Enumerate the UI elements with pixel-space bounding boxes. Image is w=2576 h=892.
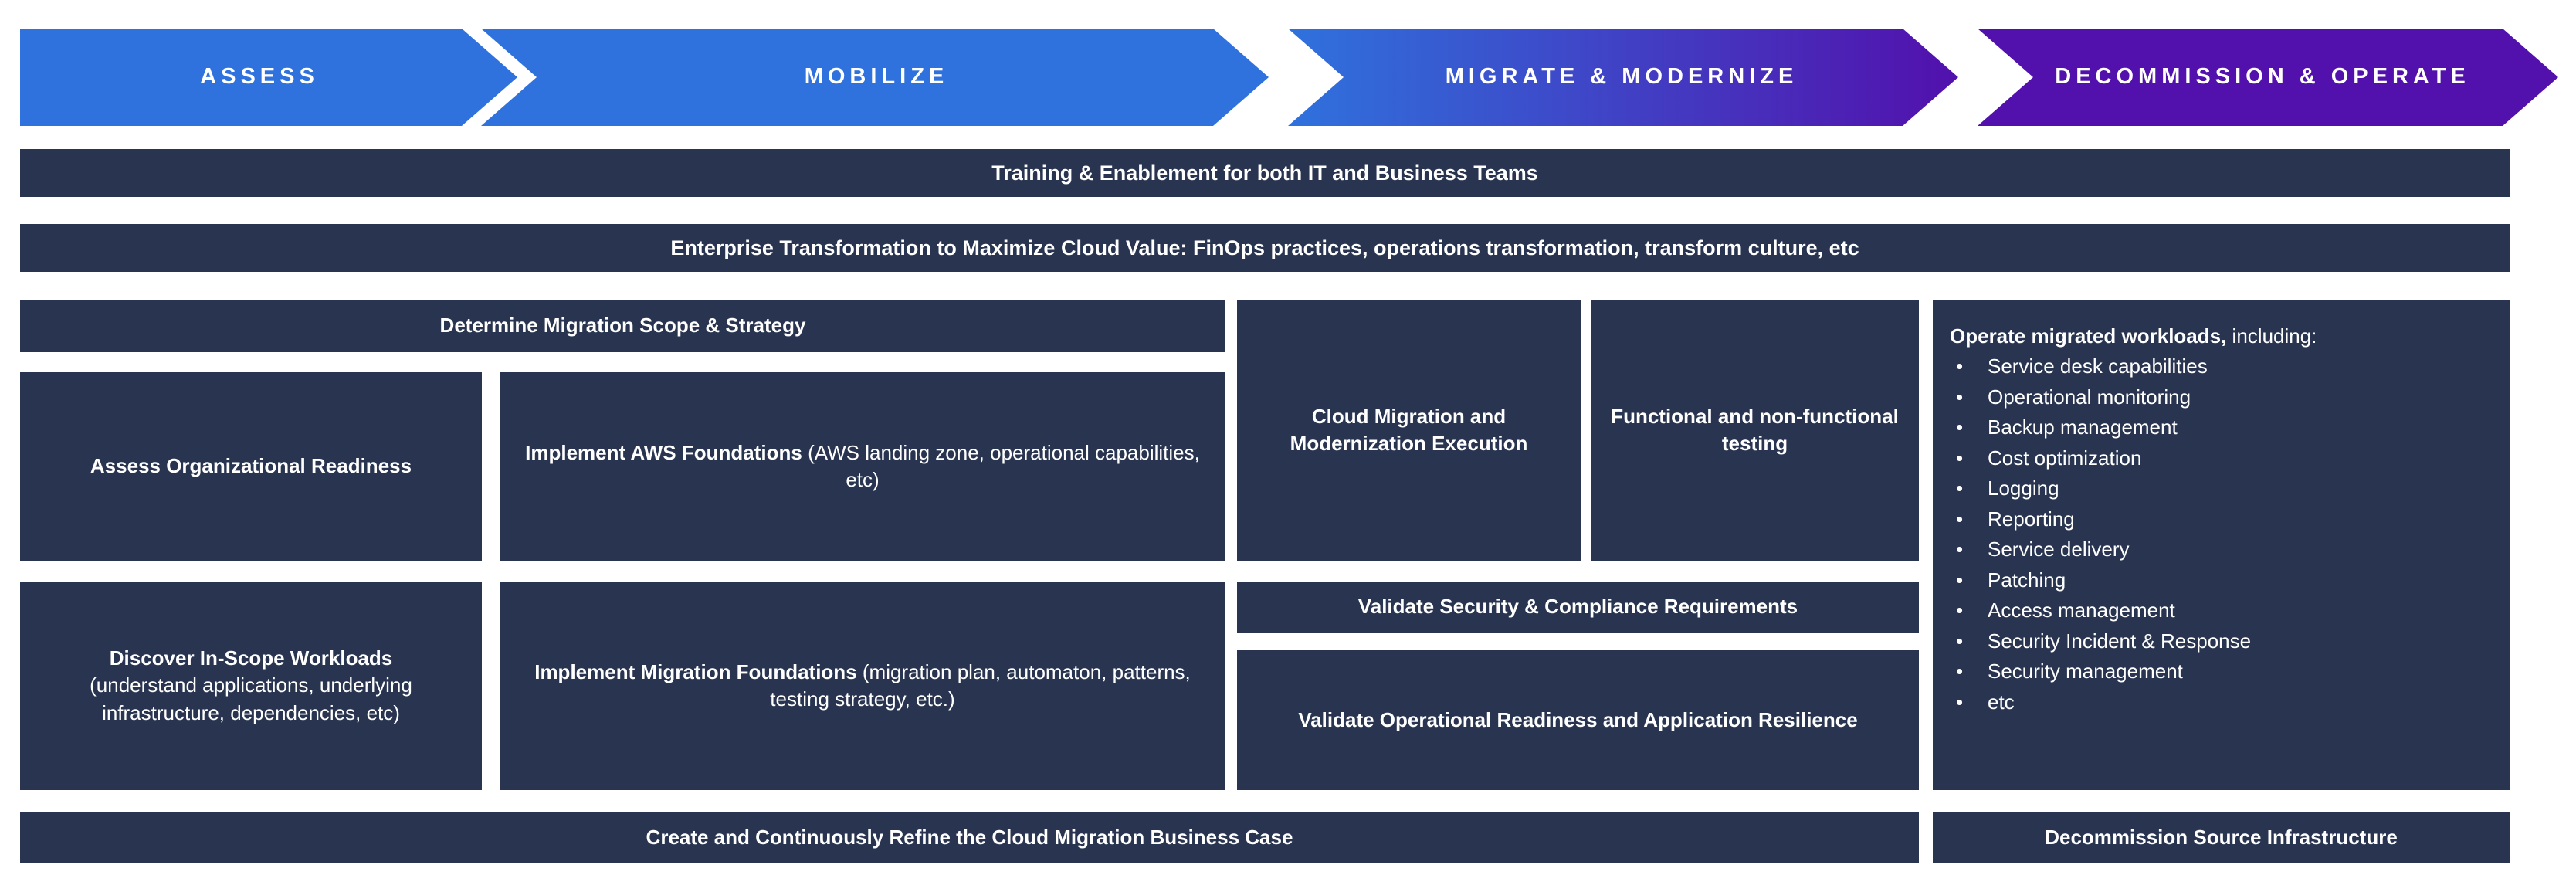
list-item-label: Cost optimization [1988,446,2141,470]
box-implement-aws-foundations-text: Implement AWS Foundations (AWS landing z… [512,439,1213,493]
phase-banner: ASSESS MOBILIZE MIGRATE & MODERNIZE DECO… [0,29,2576,126]
list-item-label: Backup management [1988,415,2178,439]
box-aws-foundations-rest: (AWS landing zone, operational capabilit… [802,441,1200,491]
bullet-icon: • [1956,595,1963,626]
box-functional-testing-text: Functional and non-functional testing [1603,403,1907,457]
list-item-label: Operational monitoring [1988,385,2191,409]
box-decommission-source-infrastructure-text: Decommission Source Infrastructure [2045,824,2398,851]
box-decommission-source-infrastructure: Decommission Source Infrastructure [1933,812,2510,863]
operate-heading-bold: Operate migrated workloads, [1950,324,2226,348]
band-enterprise-transformation: Enterprise Transformation to Maximize Cl… [20,224,2510,272]
bullet-icon: • [1956,412,1963,443]
list-item-label: etc [1988,690,2015,714]
phase-shape-decommission[interactable] [1978,29,2558,126]
box-discover-in-scope-workloads: Discover In-Scope Workloads(understand a… [20,582,482,790]
band-enterprise-bold: Enterprise Transformation to Maximize Cl… [670,236,1187,259]
box-cloud-migration-execution-text: Cloud Migration and Modernization Execut… [1249,403,1568,457]
list-item: •Cost optimization [1950,443,2493,474]
box-implement-migration-foundations-text: Implement Migration Foundations (migrati… [512,659,1213,713]
list-item-label: Security Incident & Response [1988,629,2251,653]
band-training-text: Training & Enablement for both IT and Bu… [991,159,1538,187]
bullet-icon: • [1956,687,1963,718]
box-validate-security-compliance: Validate Security & Compliance Requireme… [1237,582,1919,633]
box-determine-migration-scope-text: Determine Migration Scope & Strategy [440,312,806,339]
list-item: •etc [1950,687,2493,718]
band-enterprise-text: Enterprise Transformation to Maximize Cl… [670,234,1859,262]
bullet-icon: • [1956,504,1963,535]
list-item: •Security management [1950,656,2493,687]
box-validate-operational-readiness: Validate Operational Readiness and Appli… [1237,650,1919,790]
box-validate-security-compliance-text: Validate Security & Compliance Requireme… [1358,593,1798,620]
box-determine-migration-scope: Determine Migration Scope & Strategy [20,300,1225,352]
phase-shape-migrate[interactable] [1288,29,1958,126]
box-discover-rest: (understand applications, underlying inf… [90,673,412,724]
bullet-icon: • [1956,626,1963,657]
list-item-label: Patching [1988,568,2066,592]
box-implement-migration-foundations: Implement Migration Foundations (migrati… [500,582,1225,790]
list-item: •Operational monitoring [1950,382,2493,413]
box-assess-organizational-readiness-text: Assess Organizational Readiness [90,453,412,480]
box-business-case: Create and Continuously Refine the Cloud… [20,812,1919,863]
list-item-label: Reporting [1988,507,2075,531]
band-enterprise-rest: FinOps practices, operations transformat… [1187,236,1859,259]
box-migration-foundations-bold: Implement Migration Foundations [534,660,856,683]
band-training: Training & Enablement for both IT and Bu… [20,149,2510,197]
bullet-icon: • [1956,565,1963,596]
bullet-icon: • [1956,656,1963,687]
list-item-label: Logging [1988,477,2059,500]
list-item: •Service delivery [1950,534,2493,565]
list-item: •Logging [1950,473,2493,504]
list-item-label: Access management [1988,599,2175,622]
phase-shape-mobilize[interactable] [481,29,1269,126]
list-item: •Access management [1950,595,2493,626]
box-functional-testing: Functional and non-functional testing [1591,300,1919,561]
list-item: •Service desk capabilities [1950,351,2493,382]
operate-heading-rest: including: [2226,324,2317,348]
box-business-case-text: Create and Continuously Refine the Cloud… [646,824,1293,851]
bullet-icon: • [1956,382,1963,413]
list-item-label: Security management [1988,660,2183,683]
phase-chevrons-svg [0,29,2576,126]
box-implement-aws-foundations: Implement AWS Foundations (AWS landing z… [500,372,1225,561]
box-discover-bold: Discover In-Scope Workloads [110,646,393,670]
operate-bullet-list: •Service desk capabilities •Operational … [1950,351,2493,717]
bullet-icon: • [1956,473,1963,504]
list-item: •Patching [1950,565,2493,596]
bullet-icon: • [1956,351,1963,382]
bullet-icon: • [1956,534,1963,565]
list-item-label: Service desk capabilities [1988,354,2208,378]
list-item: •Backup management [1950,412,2493,443]
list-item: •Security Incident & Response [1950,626,2493,657]
migration-phases-diagram: ASSESS MOBILIZE MIGRATE & MODERNIZE DECO… [0,0,2576,892]
bullet-icon: • [1956,443,1963,474]
box-cloud-migration-execution: Cloud Migration and Modernization Execut… [1237,300,1581,561]
box-discover-in-scope-workloads-text: Discover In-Scope Workloads(understand a… [32,645,469,726]
box-aws-foundations-bold: Implement AWS Foundations [525,441,802,464]
list-item-label: Service delivery [1988,538,2130,561]
operate-heading: Operate migrated workloads, including: [1950,323,2317,350]
phase-shape-assess[interactable] [20,29,517,126]
list-item: •Reporting [1950,504,2493,535]
box-validate-operational-readiness-text: Validate Operational Readiness and Appli… [1298,707,1857,734]
box-assess-organizational-readiness: Assess Organizational Readiness [20,372,482,561]
box-operate-migrated-workloads: Operate migrated workloads, including: •… [1933,300,2510,790]
